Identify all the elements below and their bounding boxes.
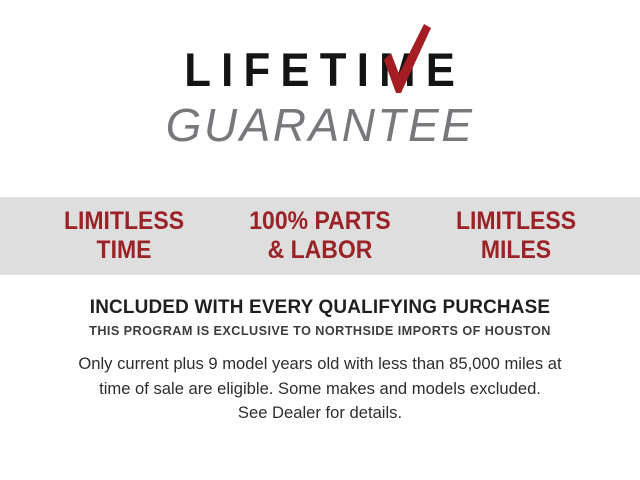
fineprint-line-1: Only current plus 9 model years old with…: [28, 352, 612, 377]
benefit-line-2: MILES: [426, 236, 606, 265]
benefit-line-2: & LABOR: [230, 236, 410, 265]
lifetime-guarantee-ad: LIFETIME GUARANTEE LIMITLESS TIME 100% P…: [0, 0, 640, 480]
lifetime-wordmark: LIFETIME: [174, 44, 465, 96]
fineprint-block: Only current plus 9 model years old with…: [28, 352, 612, 426]
logo-block: LIFETIME GUARANTEE: [0, 44, 640, 159]
fineprint-line-2: time of sale are eligible. Some makes an…: [28, 377, 612, 402]
lifetime-logo-row: LIFETIME: [0, 44, 640, 96]
benefit-line-1: LIMITLESS: [426, 207, 606, 236]
benefit-line-1: 100% PARTS: [230, 207, 410, 236]
benefit-line-1: LIMITLESS: [34, 207, 214, 236]
benefit-column-parts-labor: 100% PARTS & LABOR: [230, 207, 410, 265]
guarantee-logo-row: GUARANTEE: [0, 97, 640, 153]
subhead-text: THIS PROGRAM IS EXCLUSIVE TO NORTHSIDE I…: [13, 322, 627, 339]
benefit-line-2: TIME: [34, 236, 214, 265]
benefit-column-limitless-time: LIMITLESS TIME: [34, 207, 214, 265]
benefit-column-limitless-miles: LIMITLESS MILES: [426, 207, 606, 265]
headline-text: INCLUDED WITH EVERY QUALIFYING PURCHASE: [10, 296, 631, 319]
benefit-band: LIMITLESS TIME 100% PARTS & LABOR LIMITL…: [0, 197, 640, 275]
guarantee-wordmark: GUARANTEE: [166, 97, 475, 153]
fineprint-line-3: See Dealer for details.: [28, 401, 612, 426]
